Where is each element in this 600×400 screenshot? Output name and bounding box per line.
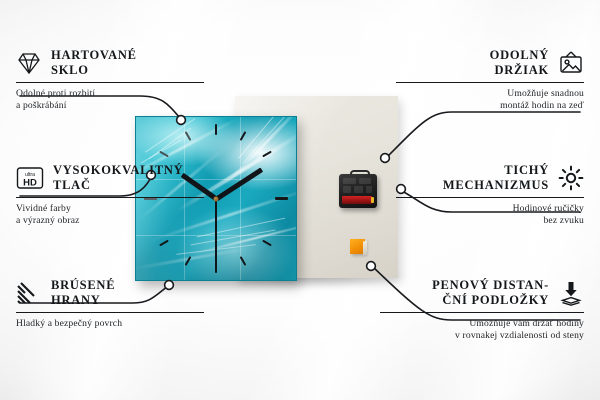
divider (380, 312, 584, 313)
feature-title: ODOLNÝ DRŽIAK (490, 48, 549, 77)
ultra-hd-icon: ultra HD (16, 165, 44, 191)
arrow-down-stack-icon (558, 280, 584, 306)
second-hand (215, 199, 217, 265)
feature-durable-hanger: ODOLNÝ DRŽIAK Umožňuje snadnou montáž ho… (396, 48, 584, 113)
feature-title: TICHÝ MECHANIZMUS (443, 163, 549, 192)
divider (396, 82, 584, 83)
feature-silent-mechanism: TICHÝ MECHANIZMUS Hodinové ručičky bez z… (396, 163, 584, 228)
feature-title: VYSOKOKVALITNÝ TLAČ (53, 163, 183, 192)
feature-title: BRÚSENÉ HRANY (51, 278, 115, 307)
foam-spacer-pad (350, 239, 365, 254)
diamond-icon (16, 50, 42, 76)
divider (396, 197, 584, 198)
feature-tempered-glass: HARTOVANÉ SKLO Odolné proti rozbití a po… (16, 48, 204, 113)
hour-marker (215, 124, 217, 135)
battery (342, 196, 372, 204)
clock-hands-hub (214, 196, 219, 201)
divider (16, 82, 204, 83)
infographic-canvas: HARTOVANÉ SKLO Odolné proti rozbití a po… (0, 0, 600, 400)
svg-text:HD: HD (23, 177, 37, 188)
feature-high-quality-print: ultra HD VYSOKOKVALITNÝ TLAČ Vividné far… (16, 163, 204, 228)
divider (16, 312, 204, 313)
picture-frame-icon (558, 50, 584, 76)
feature-polished-edges: BRÚSENÉ HRANY Hladký a bezpečný povrch (16, 278, 204, 330)
feature-description: Odolné proti rozbití a poškrábání (16, 88, 204, 113)
feature-description: Hladký a bezpečný povrch (16, 318, 204, 330)
diagonal-stripes-icon (16, 280, 42, 306)
mechanism-body (339, 174, 377, 208)
feature-description: Umožňuje vám držať hodiny v rovnakej vzd… (380, 318, 584, 343)
feature-title: PENOVÝ DISTAN- ČNÍ PODLOŽKY (432, 278, 549, 307)
feature-title: HARTOVANÉ SKLO (51, 48, 137, 77)
feature-description: Umožňuje snadnou montáž hodin na zeď (396, 88, 584, 113)
gear-icon (558, 165, 584, 191)
clock-mechanism (339, 170, 377, 208)
divider (16, 197, 204, 198)
hour-marker (275, 197, 288, 200)
feature-description: Vividné farby a výrazný obraz (16, 203, 204, 228)
feature-foam-spacers: PENOVÝ DISTAN- ČNÍ PODLOŽKY Umožňuje vám… (380, 278, 584, 343)
feature-description: Hodinové ručičky bez zvuku (396, 203, 584, 228)
